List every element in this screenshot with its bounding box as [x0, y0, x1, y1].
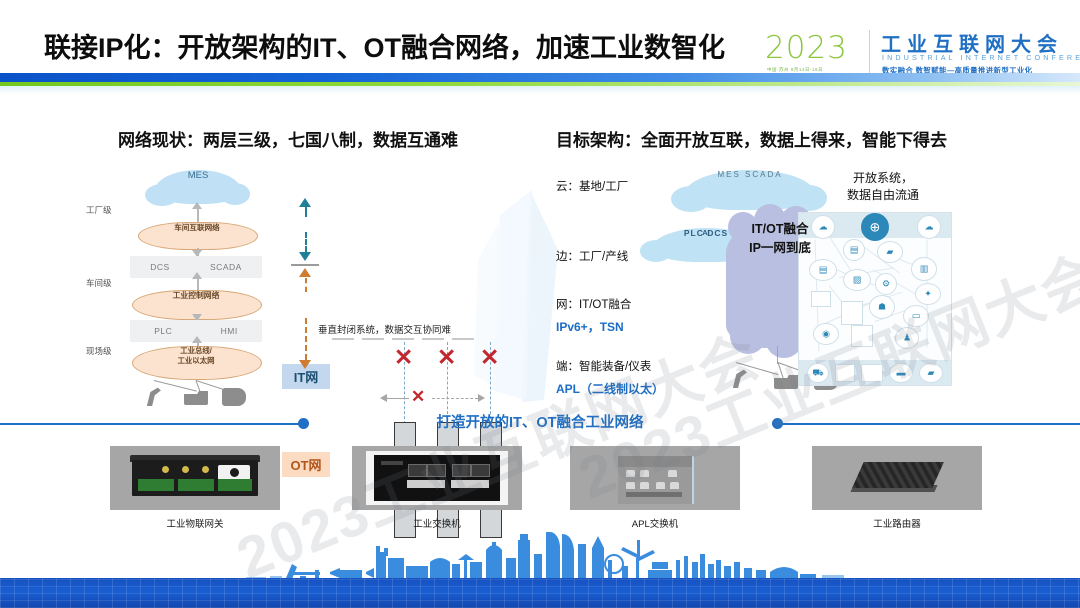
open-system-title: 开放系统， 数据自由流通 — [790, 170, 976, 204]
product-card-router[interactable]: 工业路由器 — [812, 446, 982, 530]
switch-terminal-2 — [451, 480, 489, 488]
product-card-switch[interactable]: 工业交换机 — [352, 446, 522, 530]
level-label-factory: 工厂级 — [86, 204, 112, 216]
plc-label: PLC — [154, 326, 172, 336]
arrow-up-plc — [192, 336, 202, 343]
vertical-closed-note: 垂直封闭系统，数据交互协同难 — [318, 322, 451, 336]
switch-port-3 — [452, 464, 471, 477]
switch-leds — [381, 461, 403, 465]
bus-line-2: 工业以太网 — [132, 356, 260, 366]
factory-icon: ▰ — [877, 241, 903, 263]
train-icon: ▤ — [809, 259, 837, 281]
valve-icon: ◉ — [813, 323, 839, 345]
panel-icon — [835, 364, 855, 382]
apl-port-6 — [656, 482, 665, 489]
header-blue-band — [0, 73, 1080, 82]
cloud-bump-6 — [766, 324, 802, 358]
logo-conference-en: INDUSTRIAL INTERNET CONFERENCE — [882, 53, 1080, 62]
right-section-heading: 目标架构：全面开放互联，数据上得来，智能下得去 — [556, 126, 947, 151]
switch-port-4 — [471, 464, 490, 477]
horizontal-arrow-right — [478, 394, 485, 402]
it-dash-upper — [305, 207, 307, 217]
robot-arm-icon — [728, 368, 750, 388]
product-caption-apl-switch: APL交换机 — [570, 516, 740, 530]
gateway-terminal-2 — [178, 479, 214, 491]
vehicle-icon: ⛟ — [807, 363, 829, 383]
x-mark-b: ✕ — [437, 346, 456, 369]
edge-tier-label: 边：工厂/产线 — [556, 248, 628, 264]
monitor-icon — [861, 364, 883, 382]
bag-icon: ▬ — [889, 363, 913, 383]
open-system-line-1: 开放系统， — [790, 170, 976, 187]
terminal-icon — [851, 325, 873, 347]
header-fade — [0, 86, 1080, 94]
product-card-apl-switch[interactable]: APL交换机 — [570, 446, 740, 530]
note-tick-1 — [362, 338, 384, 340]
gears-icon: ⚙ — [875, 273, 897, 295]
logo-year: 2023 — [765, 30, 860, 66]
ot-arrow-up — [299, 268, 311, 277]
hmi-label: HMI — [221, 326, 238, 336]
cloud-tier-tags: MES SCADA — [685, 170, 815, 179]
product-caption-switch: 工业交换机 — [352, 516, 522, 530]
apl-port-1 — [626, 470, 635, 477]
cloud-bump-5 — [730, 318, 766, 354]
logo-divider — [869, 30, 870, 74]
level-label-workshop: 车间级 — [86, 277, 112, 289]
truck-icon: ▰ — [919, 363, 943, 383]
note-tick-0 — [332, 338, 354, 340]
gateway-connector-1 — [162, 466, 169, 473]
endpoint-tier-tech: APL（二线制以太） — [556, 380, 664, 397]
horizontal-arrow-left — [380, 394, 387, 402]
it-ot-fusion-label: IT/OT融合 IP一网到底 — [726, 220, 834, 258]
gateway-connector-3 — [202, 466, 209, 473]
network-tier-tech: IPv6+，TSN — [556, 318, 624, 335]
fusion-line-1: IT/OT融合 — [726, 220, 834, 239]
apl-port-4 — [626, 482, 635, 489]
dcs-label: DCS — [150, 262, 169, 272]
product-caption-router: 工业路由器 — [812, 516, 982, 530]
product-card-gateway[interactable]: 工业物联网关 — [110, 446, 280, 530]
endpoint-tier-label: 端：智能装备/仪表 — [556, 358, 651, 374]
arrow-up-mes — [192, 202, 202, 209]
switch-terminal-1 — [407, 480, 445, 488]
robot-arm-icon — [142, 386, 164, 406]
page-title: 联接IP化：开放架构的IT、OT融合网络，加速工业数智化 — [44, 26, 725, 65]
x-mark-c: ✕ — [480, 346, 499, 369]
server-icon: ▤ — [843, 239, 865, 261]
apl-label-strip — [626, 492, 682, 497]
slide-header: 联接IP化：开放架构的IT、OT融合网络，加速工业数智化 2023 中国·苏州 … — [0, 0, 1080, 90]
cloud-tier-label: 云：基地/工厂 — [556, 178, 628, 194]
arrow-up-dcs — [192, 272, 202, 279]
bus-line-1: 工业总线/ — [132, 346, 260, 356]
note-tick-4 — [452, 338, 474, 340]
globe-icon: ⊕ — [861, 213, 889, 241]
scada-label: SCADA — [210, 262, 242, 272]
product-image-gateway — [110, 446, 280, 510]
switch-port-2 — [427, 464, 446, 477]
footer-skyline — [0, 532, 1080, 608]
apl-port-2 — [640, 470, 649, 477]
router-vent-mesh — [852, 462, 944, 488]
laptop-icon: ▭ — [903, 305, 929, 327]
mes-cloud-label: MES — [155, 170, 241, 181]
it-arrow-down — [299, 252, 311, 261]
apl-port-5 — [640, 482, 649, 489]
fusion-line-2: IP一网到底 — [726, 239, 834, 258]
document-icon — [841, 301, 863, 325]
product-image-router — [812, 446, 982, 510]
x-mark-middle: ✕ — [411, 388, 425, 405]
left-section-heading: 网络现状：两层三级，七国八制，数据互通难 — [118, 126, 458, 151]
gateway-terminal-1 — [138, 479, 174, 491]
gateway-label-plate — [218, 465, 250, 480]
it-dash-lower — [305, 232, 307, 252]
apl-header — [618, 456, 692, 467]
x-mark-a: ✕ — [394, 346, 413, 369]
product-image-switch — [352, 446, 522, 510]
plant-icon: ▨ — [843, 269, 871, 291]
axis-separator — [291, 264, 319, 266]
ot-dash-upper — [305, 278, 307, 292]
control-network-label: 工业控制网络 — [132, 290, 260, 301]
product-gallery: 工业物联网关 工业交换机 APL交换 — [0, 446, 1080, 532]
apl-port-3 — [668, 470, 677, 477]
gateway-connector-2 — [182, 466, 189, 473]
note-tick-2 — [392, 338, 414, 340]
people-icon: ☗ — [869, 295, 895, 319]
apl-port-7 — [670, 482, 679, 489]
horizontal-connector-2 — [432, 398, 478, 399]
it-arrow-up — [299, 198, 311, 207]
horizontal-connector-1 — [387, 398, 409, 399]
network-tier-label: 网：IT/OT融合 — [556, 296, 631, 312]
antenna-icon: ♟ — [895, 327, 919, 349]
product-image-apl-switch — [570, 446, 740, 510]
level-label-field: 现场级 — [86, 345, 112, 357]
current-network-diagram: 工厂级 车间级 现场级 MES 车间互联网络 DCS SCADA 工业控制网络 … — [60, 160, 520, 410]
pumpjack-arm — [286, 564, 297, 579]
open-system-line-2: 数据自由流通 — [790, 187, 976, 204]
handshake-icon: ✦ — [915, 283, 941, 305]
workshop-network-label: 车间互联网络 — [138, 222, 256, 233]
industrial-bus-label: 工业总线/ 工业以太网 — [132, 346, 260, 366]
footer-ground-grid — [0, 578, 1080, 608]
note-tick-3 — [422, 338, 444, 340]
ot-dash-lower — [305, 318, 307, 360]
switch-port-1 — [408, 464, 427, 477]
gateway-terminal-3 — [218, 479, 252, 491]
ot-arrow-down — [299, 360, 311, 369]
product-caption-gateway: 工业物联网关 — [110, 516, 280, 530]
banner-text: 打造开放的IT、OT融合工业网络 — [0, 404, 1080, 442]
bar-chart-icon: ▥ — [911, 257, 937, 281]
small-square-icon — [811, 291, 831, 307]
cloud-upload-icon: ☁ — [917, 215, 941, 239]
